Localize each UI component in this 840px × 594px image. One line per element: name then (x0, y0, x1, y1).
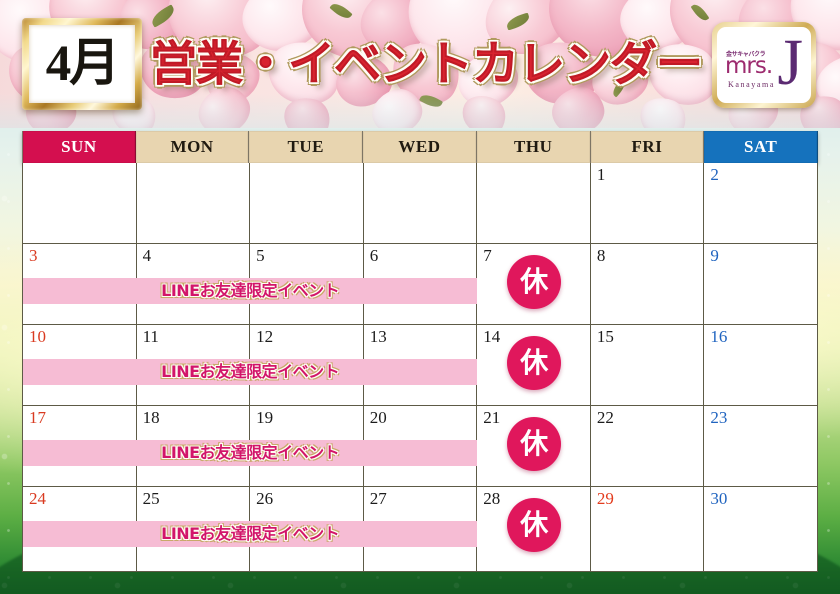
calendar-day-cell[interactable]: 22 (591, 406, 705, 486)
day-number: 2 (710, 166, 817, 185)
line-event-banner[interactable]: LINEお友達限定イベント (23, 521, 477, 547)
line-event-banner[interactable]: LINEお友達限定イベント (23, 278, 477, 304)
calendar-day-cell[interactable]: 7休 (477, 244, 591, 324)
closed-label: 休 (520, 268, 548, 296)
day-number: 17 (29, 409, 136, 428)
day-number: 15 (597, 328, 704, 347)
calendar-day-cell[interactable]: 8 (591, 244, 705, 324)
month-badge: 4月 (22, 18, 142, 110)
brand-logo: 金サキャバクラ mrs. Kanayama J (712, 22, 816, 108)
weekday-header-sat: SAT (704, 131, 818, 163)
calendar-day-cell[interactable]: 16 (704, 325, 818, 405)
calendar-weeks: 1234567休89LINEお友達限定イベント1011121314休1516LI… (22, 163, 818, 572)
day-number: 24 (29, 490, 136, 509)
line-event-banner[interactable]: LINEお友達限定イベント (23, 359, 477, 385)
day-number: 20 (370, 409, 477, 428)
day-number: 30 (710, 490, 817, 509)
closed-day-badge: 休 (507, 255, 561, 309)
day-number: 6 (370, 247, 477, 266)
calendar-day-cell[interactable]: 23 (704, 406, 818, 486)
day-number: 19 (256, 409, 363, 428)
calendar-week-row: 2425262728休2930LINEお友達限定イベント (22, 487, 818, 572)
logo-name: mrs. (725, 55, 772, 78)
day-number: 8 (597, 247, 704, 266)
day-number: 11 (143, 328, 250, 347)
logo-city: Kanayama (728, 80, 775, 89)
day-number: 27 (370, 490, 477, 509)
day-number: 16 (710, 328, 817, 347)
day-number: 22 (597, 409, 704, 428)
weekday-header-thu: THU (477, 131, 591, 163)
weekday-header-mon: MON (136, 131, 250, 163)
line-event-label: LINEお友達限定イベント (161, 364, 339, 380)
day-number: 18 (143, 409, 250, 428)
day-number: 12 (256, 328, 363, 347)
day-number: 13 (370, 328, 477, 347)
calendar-day-cell[interactable]: 9 (704, 244, 818, 324)
calendar-week-row: 12 (22, 163, 818, 244)
day-number: 4 (143, 247, 250, 266)
weekday-header-wed: WED (363, 131, 477, 163)
calendar-day-cell[interactable]: 29 (591, 487, 705, 571)
day-number: 29 (597, 490, 704, 509)
closed-day-badge: 休 (507, 336, 561, 390)
calendar-day-cell[interactable]: 30 (704, 487, 818, 571)
closed-label: 休 (520, 349, 548, 377)
calendar-empty-cell (250, 163, 364, 243)
calendar-grid: SUNMONTUEWEDTHUFRISAT 1234567休89LINEお友達限… (22, 131, 818, 572)
calendar-empty-cell (477, 163, 591, 243)
month-badge-inner: 4月 (29, 25, 135, 103)
page-title: 営業・イベントカレンダー (150, 41, 702, 88)
line-event-label: LINEお友達限定イベント (161, 445, 339, 461)
calendar-empty-cell (364, 163, 478, 243)
weekday-header-sun: SUN (22, 131, 136, 163)
line-event-label: LINEお友達限定イベント (161, 283, 339, 299)
closed-day-badge: 休 (507, 417, 561, 471)
header-band: 4月 営業・イベントカレンダー 金サキャバクラ mrs. Kanayama J (0, 0, 840, 128)
calendar-day-cell[interactable]: 21休 (477, 406, 591, 486)
day-number: 10 (29, 328, 136, 347)
closed-label: 休 (520, 430, 548, 458)
calendar-empty-cell (23, 163, 137, 243)
calendar-day-cell[interactable]: 15 (591, 325, 705, 405)
calendar-day-cell[interactable]: 28休 (477, 487, 591, 571)
month-label: 4月 (46, 39, 119, 90)
weekday-header-row: SUNMONTUEWEDTHUFRISAT (22, 131, 818, 163)
brand-logo-inner: 金サキャバクラ mrs. Kanayama J (717, 27, 811, 103)
calendar-day-cell[interactable]: 14休 (477, 325, 591, 405)
calendar-day-cell[interactable]: 2 (704, 163, 818, 243)
calendar-week-row: 34567休89LINEお友達限定イベント (22, 244, 818, 325)
logo-initial: J (777, 33, 803, 94)
day-number: 23 (710, 409, 817, 428)
line-event-label: LINEお友達限定イベント (161, 526, 339, 542)
day-number: 3 (29, 247, 136, 266)
day-number: 9 (710, 247, 817, 266)
calendar-empty-cell (137, 163, 251, 243)
closed-day-badge: 休 (507, 498, 561, 552)
weekday-header-tue: TUE (249, 131, 363, 163)
line-event-banner[interactable]: LINEお友達限定イベント (23, 440, 477, 466)
day-number: 25 (143, 490, 250, 509)
day-number: 26 (256, 490, 363, 509)
day-number: 5 (256, 247, 363, 266)
calendar-poster: 4月 営業・イベントカレンダー 金サキャバクラ mrs. Kanayama J … (0, 0, 840, 594)
calendar-day-cell[interactable]: 1 (591, 163, 705, 243)
calendar-week-row: 1011121314休1516LINEお友達限定イベント (22, 325, 818, 406)
title-container: 営業・イベントカレンダー (150, 22, 680, 106)
closed-label: 休 (520, 511, 548, 539)
day-number: 1 (597, 166, 704, 185)
weekday-header-fri: FRI (591, 131, 705, 163)
calendar-week-row: 1718192021休2223LINEお友達限定イベント (22, 406, 818, 487)
